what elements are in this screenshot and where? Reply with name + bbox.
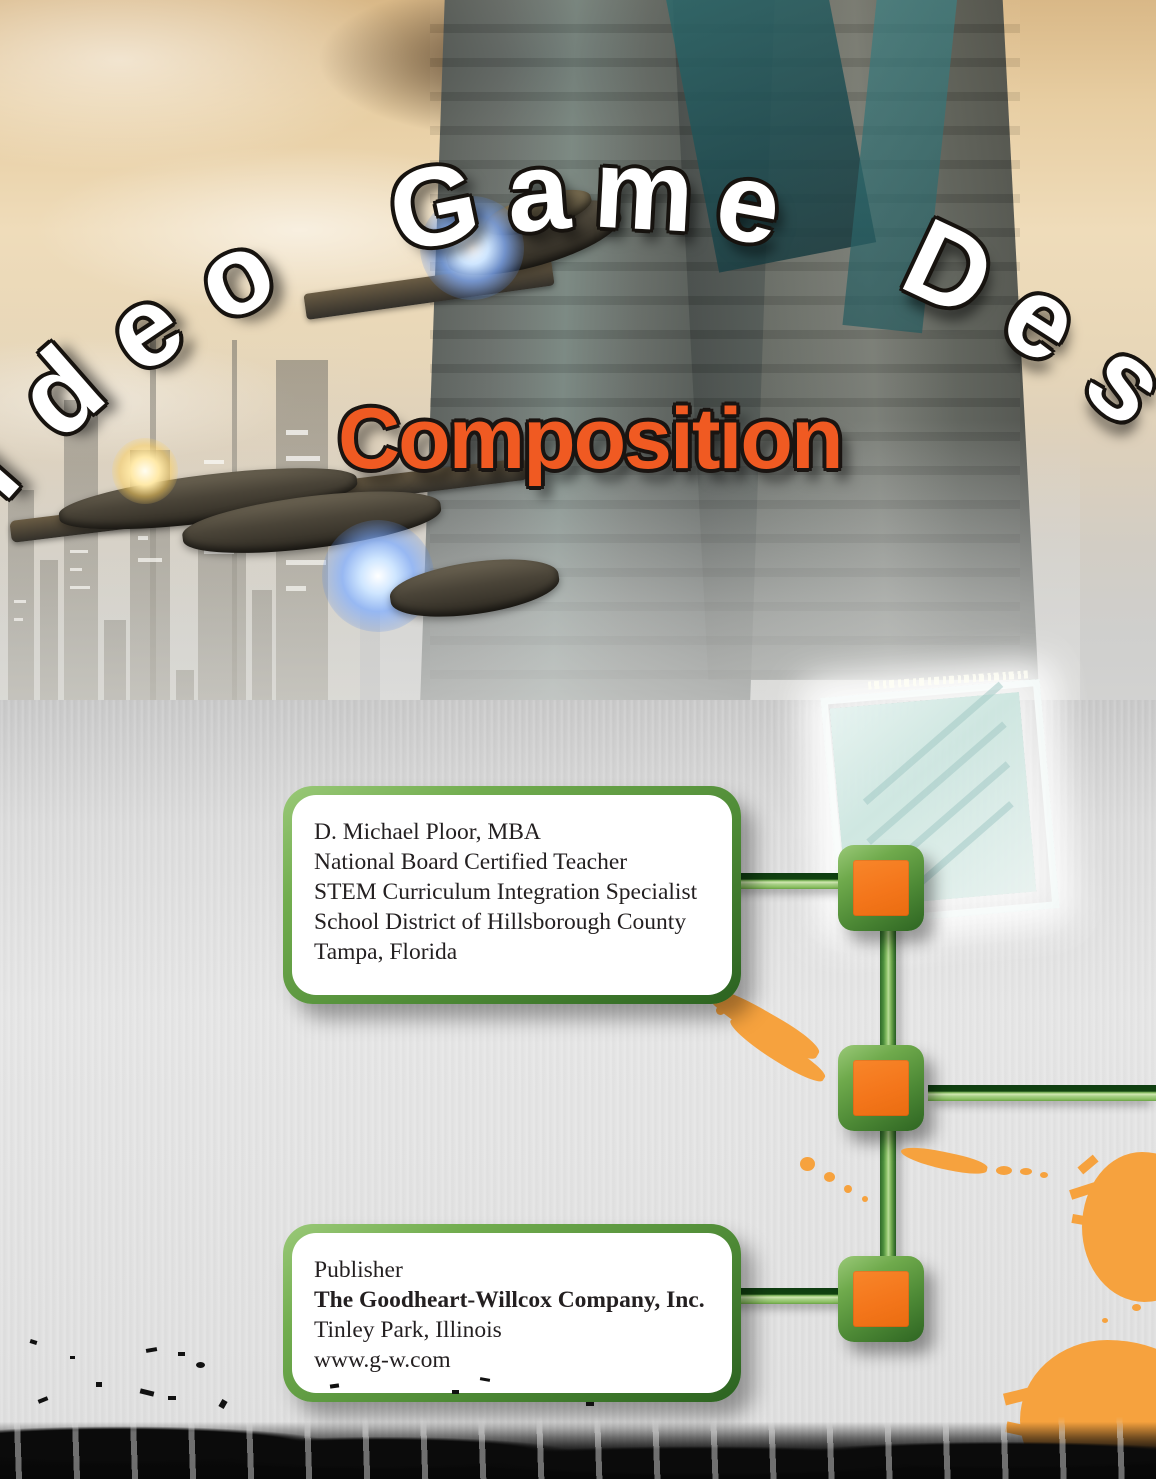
author-box-inner: D. Michael Ploor, MBA National Board Cer… <box>292 795 732 995</box>
author-line: National Board Certified Teacher <box>314 847 714 877</box>
bottom-ink-texture <box>0 1349 1156 1479</box>
author-line: STEM Curriculum Integration Specialist <box>314 877 714 907</box>
publisher-line: Tinley Park, Illinois <box>314 1315 714 1345</box>
node-middle-core <box>853 1060 909 1116</box>
publisher-name: The Goodheart-Willcox Company, Inc. <box>314 1285 714 1315</box>
connector-node-to-right-edge <box>928 1085 1156 1101</box>
author-line: D. Michael Ploor, MBA <box>314 817 714 847</box>
engine-glow-upper <box>420 196 524 300</box>
author-box: D. Michael Ploor, MBA National Board Cer… <box>283 786 741 1004</box>
node-top-core <box>853 860 909 916</box>
cover-subtitle: Composition <box>338 396 842 482</box>
author-line: Tampa, Florida <box>314 937 714 967</box>
node-bottom-core <box>853 1271 909 1327</box>
node-middle[interactable] <box>838 1045 924 1131</box>
node-top[interactable] <box>838 845 924 931</box>
publisher-line: Publisher <box>314 1255 714 1285</box>
node-bottom[interactable] <box>838 1256 924 1342</box>
book-cover: Video Game Design Composition <box>0 0 1156 1479</box>
engine-glow-small <box>112 438 178 504</box>
author-line: School District of Hillsborough County <box>314 907 714 937</box>
